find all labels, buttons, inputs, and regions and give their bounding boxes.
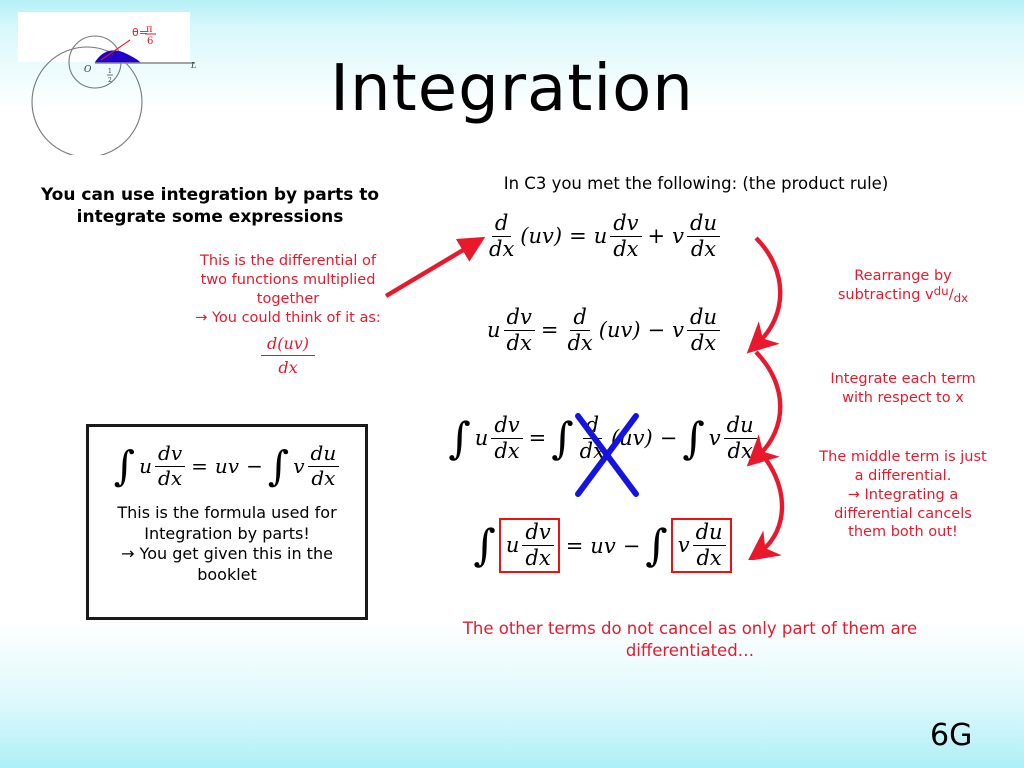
left-note-line-3: together xyxy=(172,290,404,309)
left-red-note: This is the differential of two function… xyxy=(172,252,404,379)
blue-cross-out-icon xyxy=(572,410,644,500)
var-u: u xyxy=(137,454,154,478)
highlight-box-u-dv-dx: u dv dx xyxy=(499,518,560,573)
equals-sign: = xyxy=(186,454,213,478)
bottom-red-note: The other terms do not cancel as only pa… xyxy=(400,618,980,663)
integration-by-parts-formula-box: ∫ u dv dx = uv − ∫ v du dx This is the f… xyxy=(86,424,368,620)
eq1-equals: = xyxy=(564,224,592,248)
frac-den-dx-2: dx xyxy=(308,467,338,490)
theta-num: π xyxy=(146,24,153,35)
side-note-rearrange: Rearrange by subtracting vdu/dx xyxy=(794,267,1012,305)
eq2-den-dx: dx xyxy=(504,331,535,355)
var-v: v xyxy=(291,454,306,478)
caption-line-4: booklet xyxy=(95,565,359,585)
frac-du-dx: du dx xyxy=(308,443,340,489)
slide-canvas: θ= π 6 O 1 1 2 L Integration You can use… xyxy=(0,0,1024,768)
left-note-fraction: d(uv) dx xyxy=(261,333,315,378)
eq4-v: v xyxy=(676,533,692,557)
eq1-frac-dv-dx: dv dx xyxy=(610,212,641,260)
side-note-2-line-1: Integrate each term xyxy=(794,370,1012,389)
integral-sign-2: ∫ xyxy=(268,454,291,479)
frac-num-dv: dv xyxy=(155,443,185,467)
eq2-den-dx-3: dx xyxy=(688,331,719,355)
equation-4-math: ∫ u dv dx = uv − ∫ v du dx xyxy=(473,518,732,573)
eq1-frac-d-dx: d dx xyxy=(486,212,517,260)
curly-arrow-2 xyxy=(756,352,780,456)
formula-math: ∫ u dv dx = uv − ∫ v du dx xyxy=(114,443,340,489)
eq4-num-du: du xyxy=(693,521,726,546)
eq2-num-d: d xyxy=(570,306,589,331)
product-rule-heading: In C3 you met the following: (the produc… xyxy=(470,174,922,193)
caption-line-2: Integration by parts! xyxy=(95,524,359,544)
page-number: 6G xyxy=(930,718,972,753)
side-note-3-line-5: them both out! xyxy=(794,523,1012,542)
eq2-den-dx-2: dx xyxy=(564,331,595,355)
eq2-minus: − xyxy=(643,318,671,342)
left-heading: You can use integration by parts to inte… xyxy=(20,184,400,228)
eq4-den-dx: dx xyxy=(522,546,553,570)
eq4-num-dv: dv xyxy=(522,521,553,546)
eq3-v: v xyxy=(707,426,723,450)
eq3-num-dv: dv xyxy=(491,414,522,439)
integral-sign: ∫ xyxy=(114,454,137,479)
equation-1-math: d dx (uv) = u dv dx + v du dx xyxy=(485,212,721,260)
theta-den: 6 xyxy=(147,36,153,47)
eq1-frac-du-dx: du dx xyxy=(687,212,720,260)
eq2-u: u xyxy=(485,318,503,342)
frac-den-dx: dx xyxy=(155,467,185,490)
eq1-u: u xyxy=(592,224,610,248)
frac-num-du: du xyxy=(308,443,340,467)
eq3-frac-dv-dx: dv dx xyxy=(491,414,522,462)
eq2-v: v xyxy=(670,318,686,342)
eq3-integral-3: ∫ xyxy=(682,426,706,453)
eq2-uv: (uv) xyxy=(597,318,643,342)
eq2-num-du: du xyxy=(687,306,720,331)
eq1-v: v xyxy=(670,224,686,248)
equation-2-math: u dv dx = d dx (uv) − v du dx xyxy=(485,306,721,354)
polar-cardioid-diagram: θ= π 6 O 1 1 2 L xyxy=(18,12,190,62)
eq4-integral-2: ∫ xyxy=(645,533,669,560)
eq3-minus: − xyxy=(655,426,683,450)
side-note-1-subscript: dx xyxy=(954,293,969,305)
eq1-num-du: du xyxy=(687,212,720,237)
side-note-1-prefix: subtracting v xyxy=(838,287,934,303)
curly-arrow-3 xyxy=(756,448,782,552)
equation-product-rule: d dx (uv) = u dv dx + v du dx xyxy=(448,212,758,260)
side-note-3-line-2: a differential. xyxy=(794,467,1012,486)
side-note-middle-term: The middle term is just a differential. … xyxy=(794,448,1012,542)
term-uv: uv xyxy=(213,454,241,478)
eq2-equals: = xyxy=(536,318,564,342)
eq2-frac-dv-dx: dv dx xyxy=(504,306,535,354)
eq3-equals: = xyxy=(524,426,552,450)
eq4-den-dx-2: dx xyxy=(693,546,724,570)
eq2-frac-du-dx: du dx xyxy=(687,306,720,354)
eq3-den-dx: dx xyxy=(491,439,522,463)
eq4-minus: − xyxy=(618,534,646,558)
eq1-num-dv: dv xyxy=(610,212,641,237)
side-note-1-line-2: subtracting vdu/dx xyxy=(794,286,1012,305)
eq4-uv: uv xyxy=(588,534,617,558)
left-note-line-2: two functions multiplied xyxy=(172,271,404,290)
eq3-integral-1: ∫ xyxy=(448,426,472,453)
left-note-line-4: → You could think of it as: xyxy=(172,309,404,328)
bottom-note-line-2: differentiated… xyxy=(400,640,980,662)
caption-line-1: This is the formula used for xyxy=(95,503,359,523)
eq1-num-d: d xyxy=(492,212,511,237)
eq2-frac-d-dx: d dx xyxy=(564,306,595,354)
left-note-fraction-numerator: d(uv) xyxy=(261,333,315,356)
side-note-3-line-3: → Integrating a xyxy=(794,486,1012,505)
side-note-1-line-1: Rearrange by xyxy=(794,267,1012,286)
eq4-u: u xyxy=(504,533,522,557)
equation-rearranged: u dv dx = d dx (uv) − v du dx xyxy=(448,306,758,354)
equation-final: ∫ u dv dx = uv − ∫ v du dx xyxy=(448,518,758,573)
left-note-line-1: This is the differential of xyxy=(172,252,404,271)
eq1-den-dx-3: dx xyxy=(688,237,719,261)
side-note-3-line-1: The middle term is just xyxy=(794,448,1012,467)
eq2-num-dv: dv xyxy=(504,306,535,331)
side-note-2-line-2: with respect to x xyxy=(794,389,1012,408)
eq4-frac-dv-dx: dv dx xyxy=(522,521,553,569)
eq1-plus: + xyxy=(643,224,671,248)
frac-dv-dx: dv dx xyxy=(155,443,185,489)
side-note-3-line-4: differential cancels xyxy=(794,505,1012,524)
page-title: Integration xyxy=(0,56,1024,123)
left-note-fraction-denominator: dx xyxy=(261,356,315,378)
highlight-box-v-du-dx: v du dx xyxy=(671,518,732,573)
eq3-u: u xyxy=(473,426,491,450)
bottom-note-line-1: The other terms do not cancel as only pa… xyxy=(400,618,980,640)
minus-sign: − xyxy=(241,454,268,478)
side-note-1-superscript: du xyxy=(934,286,949,298)
formula-box-caption: This is the formula used for Integration… xyxy=(89,503,365,585)
eq4-integral-1: ∫ xyxy=(473,533,497,560)
caption-line-3: → You get given this in the xyxy=(95,544,359,564)
curly-arrow-1 xyxy=(756,238,780,343)
eq4-equals: = xyxy=(561,534,589,558)
eq1-den-dx-2: dx xyxy=(610,237,641,261)
eq1-den-dx: dx xyxy=(486,237,517,261)
eq4-frac-du-dx: du dx xyxy=(693,521,726,569)
boxed-formula-equation: ∫ u dv dx = uv − ∫ v du dx xyxy=(89,443,365,489)
eq1-uv: (uv) xyxy=(518,224,564,248)
side-note-integrate: Integrate each term with respect to x xyxy=(794,370,1012,408)
